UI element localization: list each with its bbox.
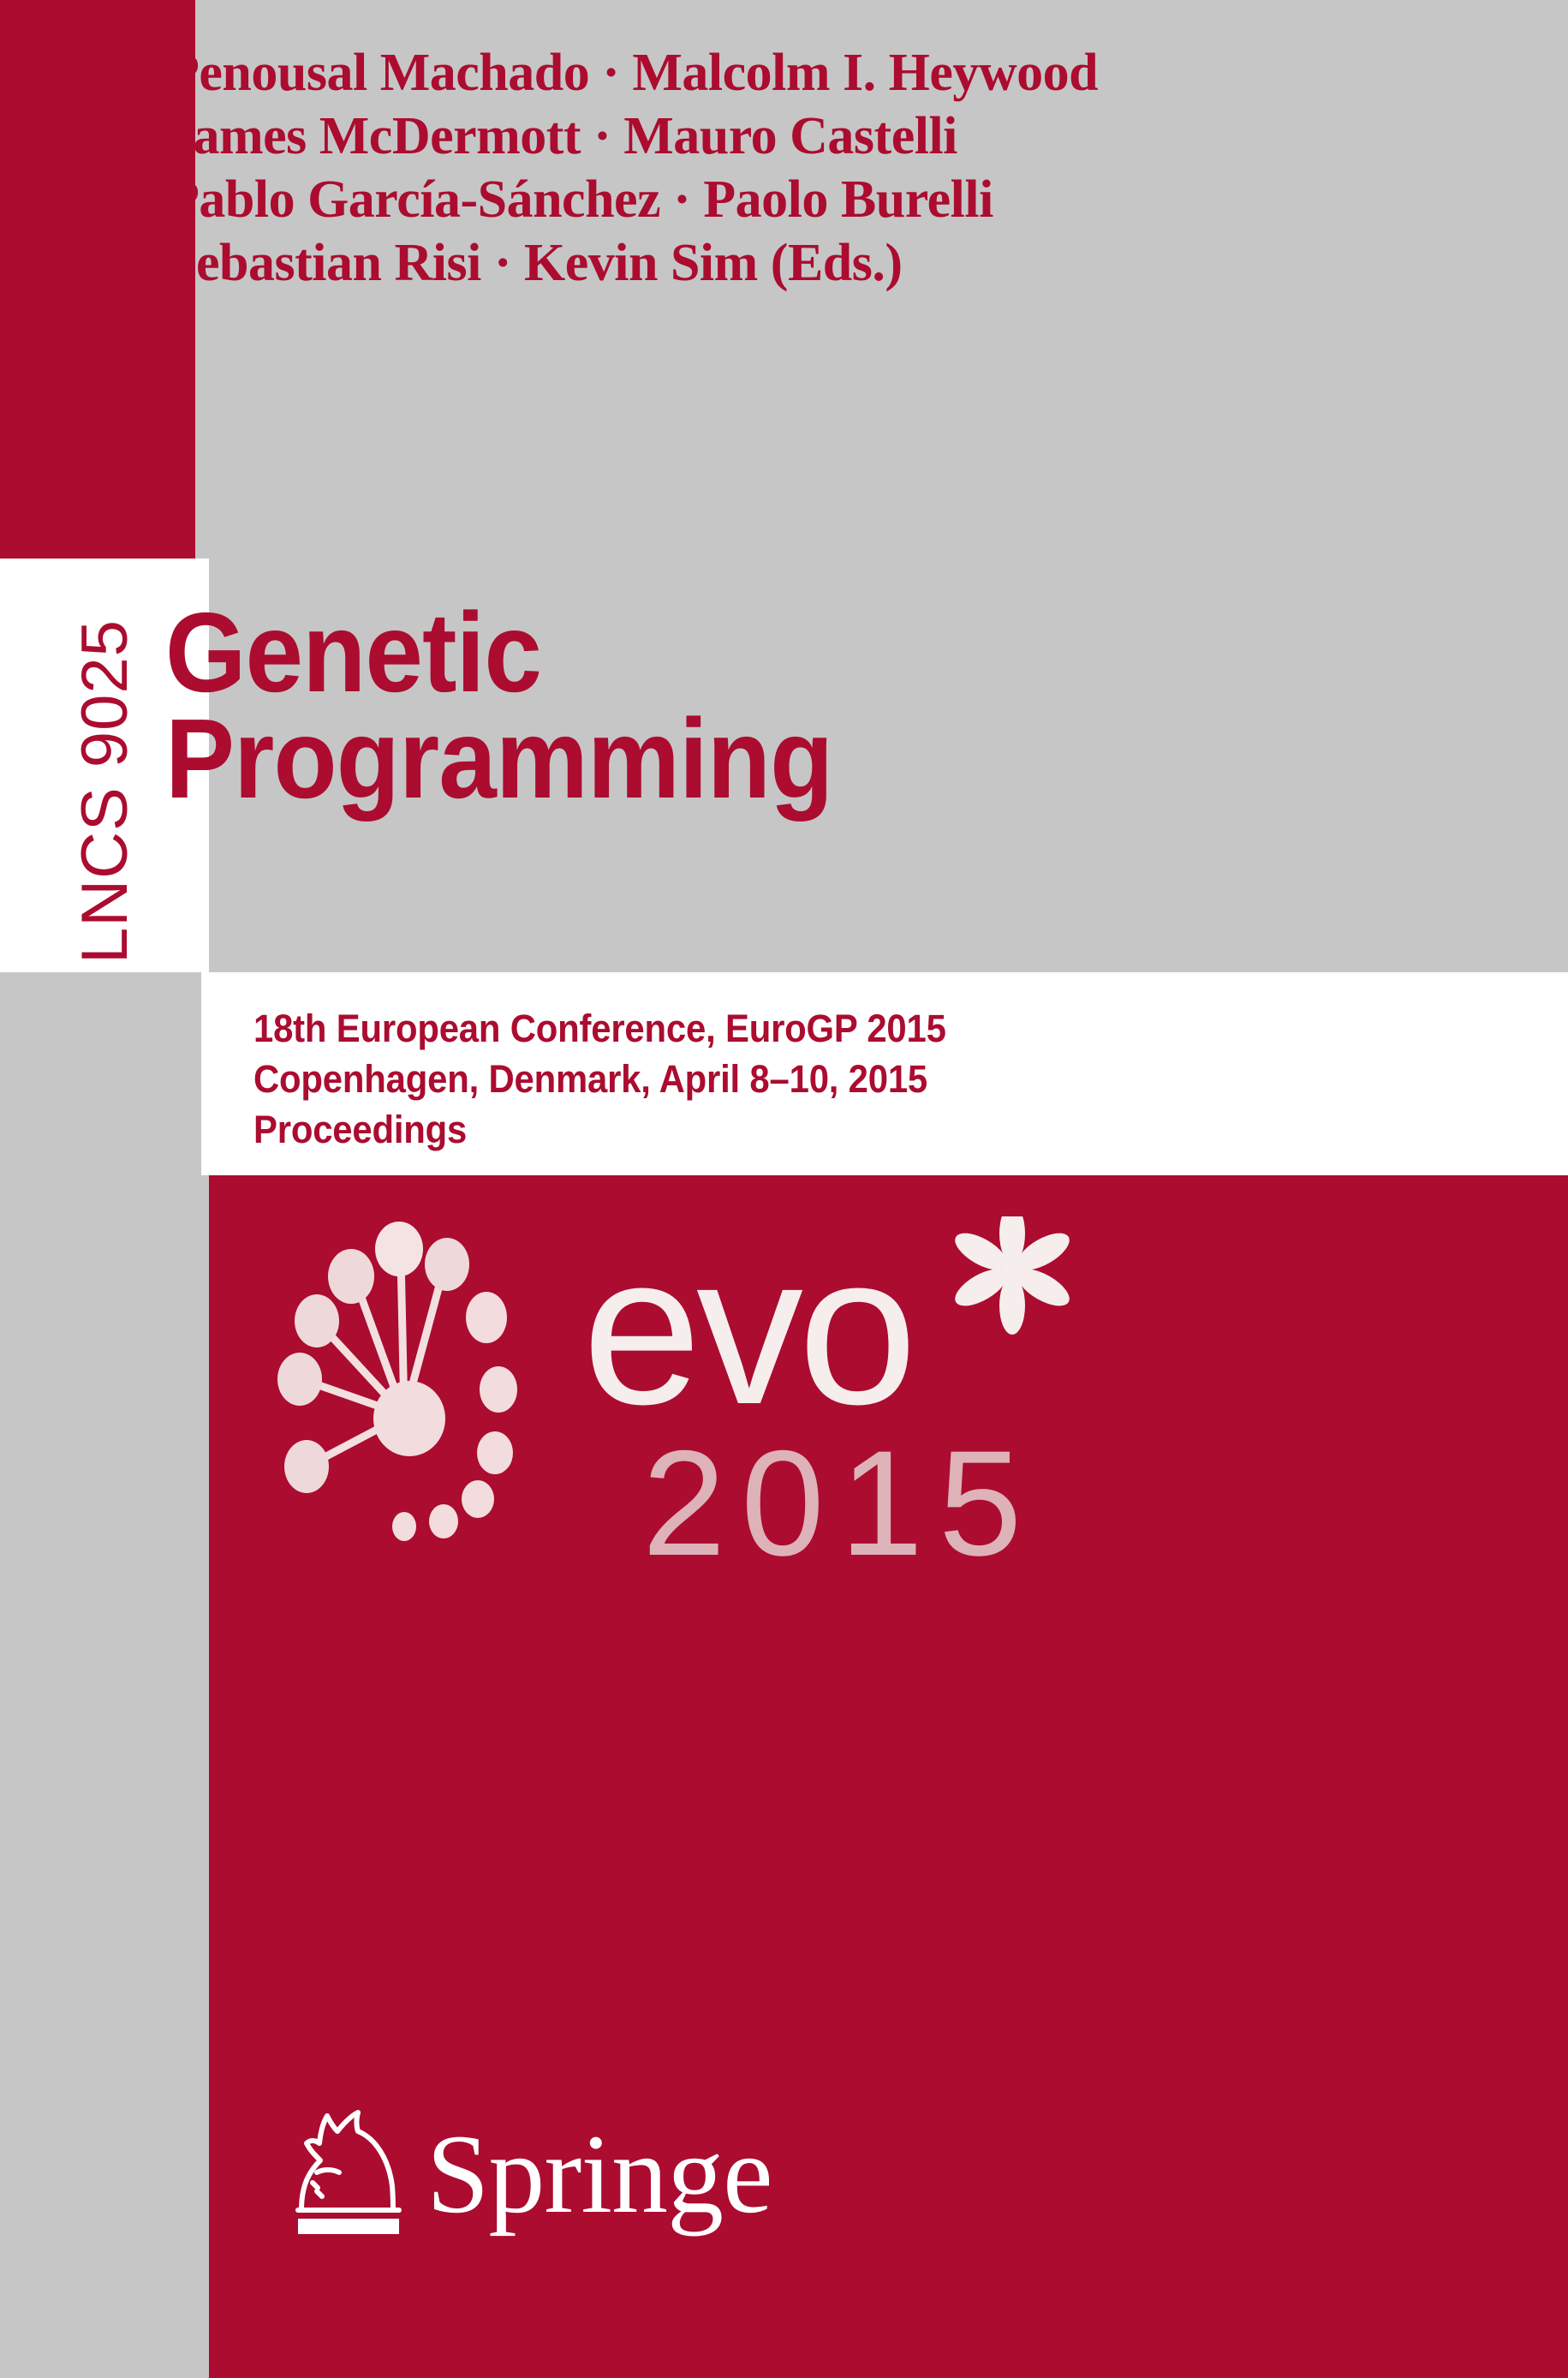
editors-line: Sebastian Risi · Kevin Sim (Eds.) [167,231,1366,295]
evostar-wordmark: evo [582,1216,1075,1449]
springer-wordmark: Springer [426,2111,769,2237]
svg-text:evo: evo [582,1216,912,1449]
evostar-logo: evo 2015 [274,1216,1130,1576]
evostar-year: 2015 [642,1420,1037,1576]
top-left-red-bar [0,0,195,559]
title-line: Programming [165,706,1347,812]
book-subtitle: 18th European Conference, EuroGP 2015 Co… [253,1003,1368,1155]
springer-logo: Springer [272,2090,769,2270]
editors-line: Penousal Machado · Malcolm I. Heywood [167,41,1366,105]
book-title: Genetic Programming [165,600,1347,812]
editors-line: James McDermott · Mauro Castelli [167,105,1366,168]
asterisk-icon [950,1216,1076,1335]
title-line: Genetic [165,600,1347,706]
subtitle-line: Proceedings [253,1104,1368,1155]
editors-line: Pablo García-Sánchez · Paolo Burelli [167,168,1366,231]
subtitle-line: Copenhagen, Denmark, April 8–10, 2015 [253,1054,1368,1104]
book-cover: LNCS 9025 Penousal Machado · Malcolm I. … [0,0,1568,2378]
editors-block: Penousal Machado · Malcolm I. Heywood Ja… [167,41,1366,295]
knight-chess-piece-icon [298,2112,399,2210]
subtitle-line: 18th European Conference, EuroGP 2015 [253,1003,1368,1054]
evostar-dandelion-icon [277,1222,517,1541]
knight-base-bar [298,2219,399,2234]
